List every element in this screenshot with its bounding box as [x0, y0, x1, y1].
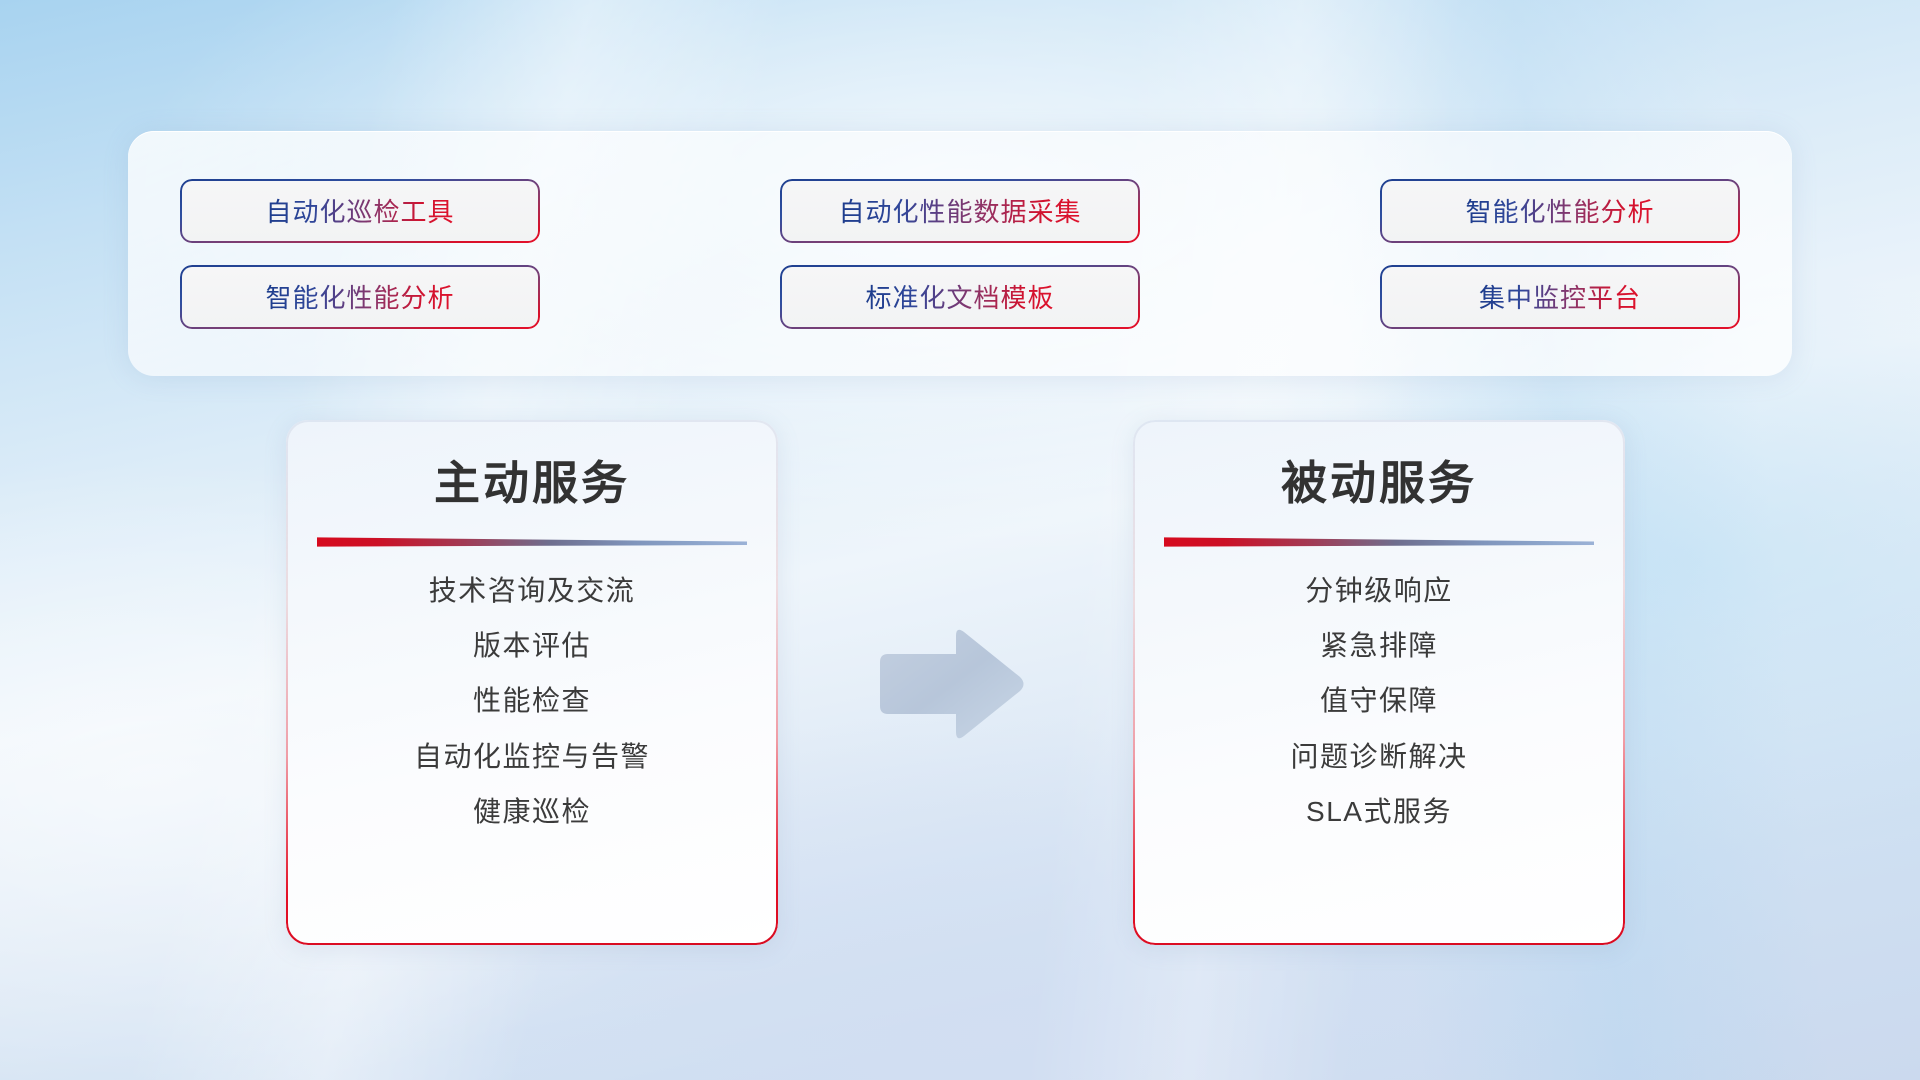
capability-pill-label: 标准化文档模板 [865, 278, 1054, 315]
list-item: 自动化监控与告警 [414, 739, 650, 775]
list-item: 技术咨询及交流 [429, 573, 636, 609]
card-inner: 主动服务 技术咨询及交流 版本评估 性能检查 自动化监控与告警 健康巡检 [286, 420, 778, 945]
card-item-list: 技术咨询及交流 版本评估 性能检查 自动化监控与告警 健康巡检 [286, 573, 778, 831]
card-inner: 被动服务 分钟级响应 紧急排障 值守保障 问题诊断解决 SLA式服务 [1133, 420, 1625, 945]
capability-pill-label: 自动化性能数据采集 [838, 192, 1081, 229]
service-card-reactive[interactable]: 被动服务 分钟级响应 紧急排障 值守保障 问题诊断解决 SLA式服务 [1133, 420, 1625, 945]
card-item-list: 分钟级响应 紧急排障 值守保障 问题诊断解决 SLA式服务 [1133, 573, 1625, 831]
arrow-right-icon [872, 622, 1028, 746]
capability-pill[interactable]: 自动化巡检工具 [180, 179, 540, 243]
capability-pill[interactable]: 标准化文档模板 [780, 265, 1140, 329]
list-item: SLA式服务 [1306, 794, 1452, 830]
capability-pill-label: 自动化巡检工具 [265, 192, 454, 229]
capability-pill[interactable]: 自动化性能数据采集 [780, 179, 1140, 243]
capability-pill-label: 智能化性能分析 [1465, 192, 1654, 229]
list-item: 版本评估 [473, 628, 591, 664]
capability-pill-label: 智能化性能分析 [265, 278, 454, 315]
card-title-divider [1164, 536, 1594, 547]
capability-pill-label: 集中监控平台 [1479, 278, 1641, 315]
list-item: 分钟级响应 [1305, 573, 1453, 609]
capability-row-2: 智能化性能分析 标准化文档模板 集中监控平台 [180, 265, 1740, 329]
list-item: 问题诊断解决 [1290, 739, 1467, 775]
capability-pill[interactable]: 智能化性能分析 [1380, 179, 1740, 243]
slide-canvas: 自动化巡检工具 自动化性能数据采集 智能化性能分析 智能化性能分析 标准化文档模… [0, 0, 1920, 1080]
card-title: 被动服务 [1281, 458, 1477, 509]
list-item: 健康巡检 [473, 794, 591, 830]
list-item: 紧急排障 [1320, 628, 1438, 664]
card-title-divider [317, 536, 747, 547]
capability-pill[interactable]: 集中监控平台 [1380, 265, 1740, 329]
list-item: 值守保障 [1320, 683, 1438, 719]
list-item: 性能检查 [473, 683, 591, 719]
capabilities-panel: 自动化巡检工具 自动化性能数据采集 智能化性能分析 智能化性能分析 标准化文档模… [128, 131, 1792, 376]
service-card-proactive[interactable]: 主动服务 技术咨询及交流 版本评估 性能检查 自动化监控与告警 健康巡检 [286, 420, 778, 945]
card-title: 主动服务 [434, 458, 630, 509]
capability-pill[interactable]: 智能化性能分析 [180, 265, 540, 329]
capability-row-1: 自动化巡检工具 自动化性能数据采集 智能化性能分析 [180, 179, 1740, 243]
